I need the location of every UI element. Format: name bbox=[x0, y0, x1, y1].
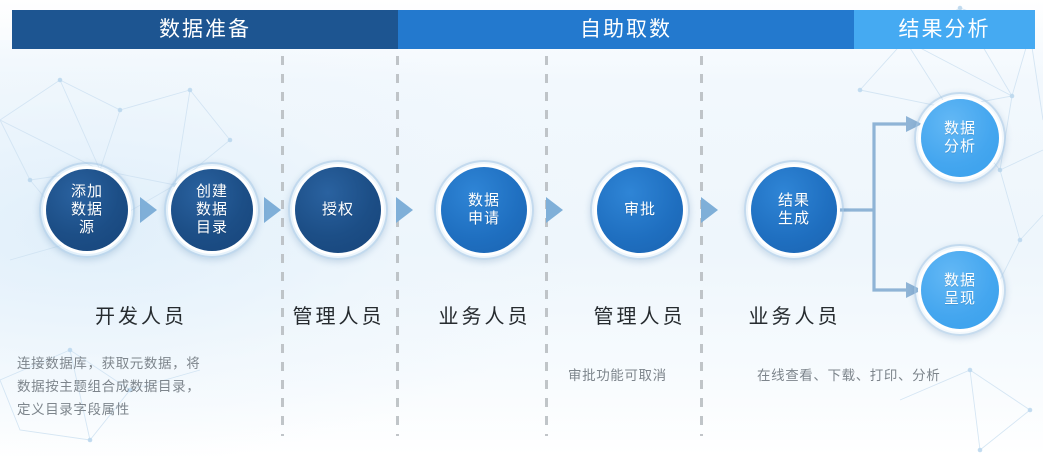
node-label: 结果 生成 bbox=[778, 192, 810, 227]
node-label: 数据 申请 bbox=[468, 192, 500, 227]
node-label: 审批 bbox=[624, 201, 656, 219]
role-label-administrator: 管理人员 bbox=[291, 300, 386, 329]
description-approval: 审批功能可取消 bbox=[568, 364, 698, 387]
phase-label: 数据准备 bbox=[159, 19, 251, 40]
phase-result-analysis[interactable]: 结果分析 bbox=[854, 10, 1035, 49]
role-label-business-user-2: 业务人员 bbox=[747, 300, 842, 329]
node-result-generation[interactable]: 结果 生成 bbox=[744, 160, 844, 260]
node-label: 添加 数据 源 bbox=[71, 183, 103, 236]
node-add-datasource[interactable]: 添加 数据 源 bbox=[39, 162, 135, 258]
flowchart-canvas: 数据准备 自助取数 结果分析 添加 数据 源 bbox=[0, 0, 1043, 456]
phase-label: 自助取数 bbox=[580, 19, 672, 40]
node-create-catalog[interactable]: 创建 数据 目录 bbox=[164, 162, 260, 258]
node-authorize[interactable]: 授权 bbox=[288, 160, 388, 260]
phase-label: 结果分析 bbox=[899, 19, 991, 40]
phase-data-preparation[interactable]: 数据准备 bbox=[12, 10, 398, 49]
node-data-analysis[interactable]: 数据 分析 bbox=[914, 92, 1006, 184]
node-data-presentation[interactable]: 数据 呈现 bbox=[914, 244, 1006, 336]
column-divider-3 bbox=[545, 56, 548, 436]
phase-header-bar: 数据准备 自助取数 结果分析 bbox=[12, 10, 1035, 49]
role-label-business-user: 业务人员 bbox=[437, 300, 532, 329]
column-divider-4 bbox=[700, 56, 703, 436]
node-label: 授权 bbox=[322, 201, 354, 219]
arrow-request-to-approval-icon bbox=[546, 197, 563, 223]
arrow-add-to-create-icon bbox=[140, 197, 157, 223]
column-divider-1 bbox=[281, 56, 284, 436]
arrow-authorize-to-request-icon bbox=[396, 197, 413, 223]
arrow-create-to-authorize-icon bbox=[264, 197, 281, 223]
phase-self-service-query[interactable]: 自助取数 bbox=[398, 10, 854, 49]
description-data-preparation: 连接数据库，获取元数据，将 数据按主题组合成数据目录， 定义目录字段属性 bbox=[17, 352, 272, 422]
arrow-approval-to-result-icon bbox=[701, 197, 718, 223]
role-label-administrator-2: 管理人员 bbox=[592, 300, 687, 329]
column-divider-2 bbox=[396, 56, 399, 436]
node-label: 创建 数据 目录 bbox=[196, 183, 228, 236]
description-result: 在线查看、下载、打印、分析 bbox=[757, 364, 997, 387]
node-label: 数据 呈现 bbox=[944, 272, 976, 307]
node-approval[interactable]: 审批 bbox=[590, 160, 690, 260]
node-data-request[interactable]: 数据 申请 bbox=[434, 160, 534, 260]
role-label-developer: 开发人员 bbox=[46, 300, 236, 329]
node-label: 数据 分析 bbox=[944, 120, 976, 155]
